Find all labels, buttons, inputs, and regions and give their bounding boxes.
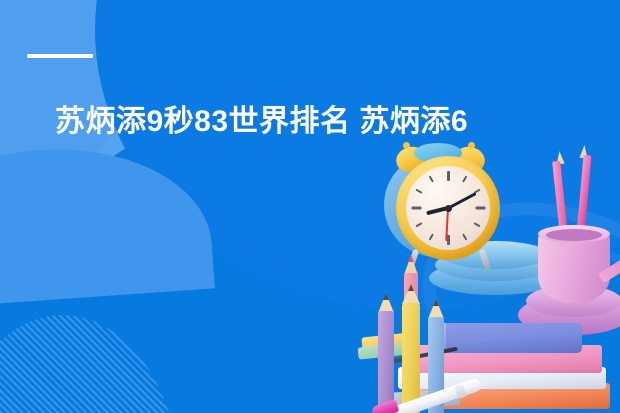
pencil-yellow-body <box>402 303 420 413</box>
clock-tick <box>462 233 467 240</box>
clock-tick <box>415 189 422 194</box>
pencil-purple-body <box>378 311 394 413</box>
clock-tick <box>447 171 450 181</box>
clock-center-pin <box>445 205 452 212</box>
pencil-purple-lead <box>383 293 389 300</box>
clock-tick <box>475 207 485 210</box>
clock-tick <box>473 222 480 227</box>
pencil-yellow-lead <box>408 284 414 291</box>
pencil-cup-opening <box>546 229 602 241</box>
clock-minute-hand <box>447 192 476 209</box>
alarm-clock <box>396 156 500 260</box>
cup-pencil-left <box>552 161 568 235</box>
clock-tick <box>415 222 422 227</box>
accent-rule <box>27 54 93 58</box>
clock-tick <box>462 175 467 182</box>
pencil-blue-lead <box>433 299 439 306</box>
clock-knob-right <box>468 142 475 149</box>
clock-dial <box>406 166 490 250</box>
cup-pencil-right <box>577 155 592 235</box>
banner-image: 苏炳添9秒83世界排名 苏炳添6 <box>0 0 620 413</box>
clock-tick <box>411 207 421 210</box>
clock-tick <box>429 175 434 182</box>
clock-knob-left <box>403 142 410 149</box>
background-striped-dome <box>0 315 180 413</box>
clock-tick <box>429 233 434 240</box>
banner-headline: 苏炳添9秒83世界排名 苏炳添6 <box>55 103 615 141</box>
pencil-pink-lead <box>408 255 414 262</box>
study-desk-illustration <box>340 145 620 413</box>
